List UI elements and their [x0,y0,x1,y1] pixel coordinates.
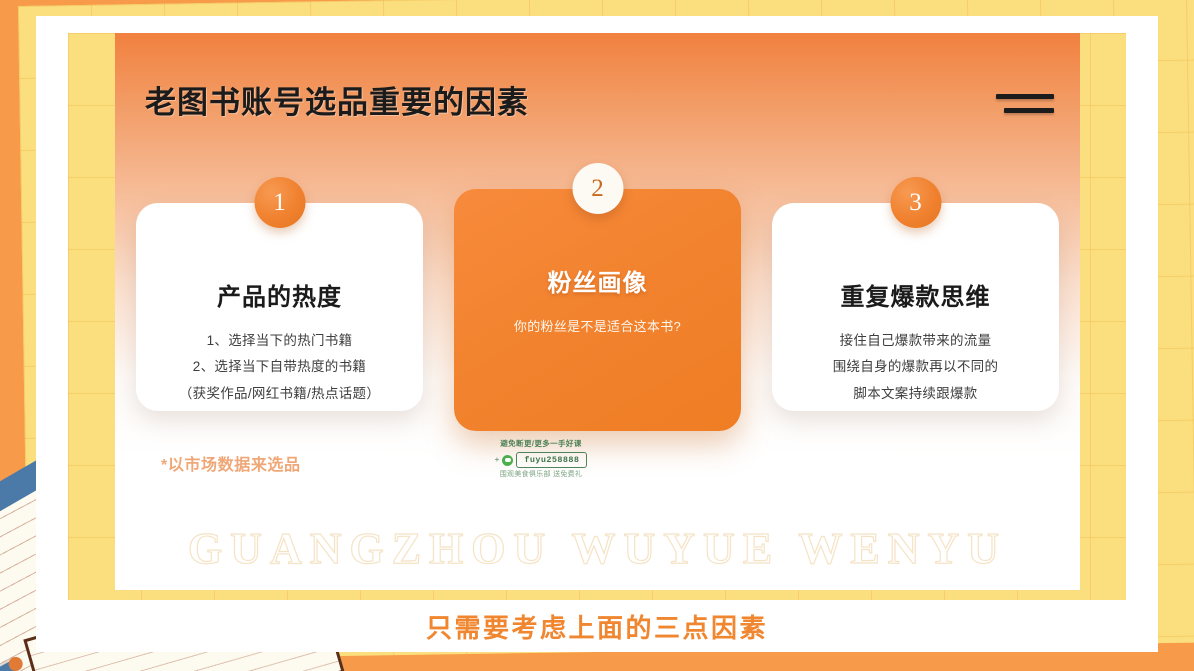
card-title: 粉丝画像 [454,263,741,298]
watermark-text: GUANGZHOU WUYUE WENYU [115,523,1080,574]
factor-card-2[interactable]: 2 粉丝画像 你的粉丝是不是适合这本书? [454,189,741,431]
factor-card-1[interactable]: 1 产品的热度 1、选择当下的热门书籍 2、选择当下自带热度的书籍 （获奖作品/… [136,203,423,411]
card-line: 你的粉丝是不是适合这本书? [454,314,741,339]
menu-bar-top [996,94,1054,99]
card-number-badge: 3 [890,177,941,228]
factor-card-list: 1 产品的热度 1、选择当下的热门书籍 2、选择当下自带热度的书籍 （获奖作品/… [136,203,1059,431]
card-line: 2、选择当下自带热度的书籍 [136,354,423,380]
card-line: （获奖作品/网红书籍/热点话题） [136,381,423,407]
card-number-badge: 1 [254,177,305,228]
card-body: 1、选择当下的热门书籍 2、选择当下自带热度的书籍 （获奖作品/网红书籍/热点话… [136,328,423,407]
wechat-badge-headline: 避免断更/更多一手好课 [478,439,604,450]
card-line: 围绕自身的爆款再以不同的 [772,354,1059,380]
hamburger-menu-icon[interactable] [996,89,1054,117]
bottom-caption-text: 只需要考虑上面的三点因素 [426,608,768,645]
factor-card-3[interactable]: 3 重复爆款思维 接住自己爆款带来的流量 围绕自身的爆款再以不同的 脚本文案持续… [772,203,1059,411]
slide-canvas: 老图书账号选品重要的因素 1 产品的热度 1、选择当下的热门书籍 2、选择当下自… [0,0,1194,671]
menu-bar-bottom [1004,108,1054,113]
card-line: 接住自己爆款带来的流量 [772,328,1059,354]
card-line: 1、选择当下的热门书籍 [136,328,423,354]
wechat-badge-id-row: + fuyu258888 [478,452,604,468]
page-title: 老图书账号选品重要的因素 [145,77,529,122]
slide-content: 老图书账号选品重要的因素 1 产品的热度 1、选择当下的热门书籍 2、选择当下自… [115,33,1080,590]
wechat-contact-badge: 避免断更/更多一手好课 + fuyu258888 围观美食俱乐部 送免费礼 [478,439,604,480]
card-body: 你的粉丝是不是适合这本书? [454,314,741,339]
footnote-text: *以市场数据来选品 [161,451,301,475]
wechat-id-value: fuyu258888 [516,452,587,468]
card-line: 脚本文案持续跟爆款 [772,381,1059,407]
bottom-caption-bar: 只需要考虑上面的三点因素 [36,600,1158,652]
card-body: 接住自己爆款带来的流量 围绕自身的爆款再以不同的 脚本文案持续跟爆款 [772,328,1059,407]
card-title: 产品的热度 [136,277,423,312]
wechat-icon [502,455,513,466]
wechat-badge-subline: 围观美食俱乐部 送免费礼 [478,470,604,480]
plus-sign: + [495,454,500,466]
card-number-badge: 2 [572,163,623,214]
card-title: 重复爆款思维 [772,277,1059,312]
